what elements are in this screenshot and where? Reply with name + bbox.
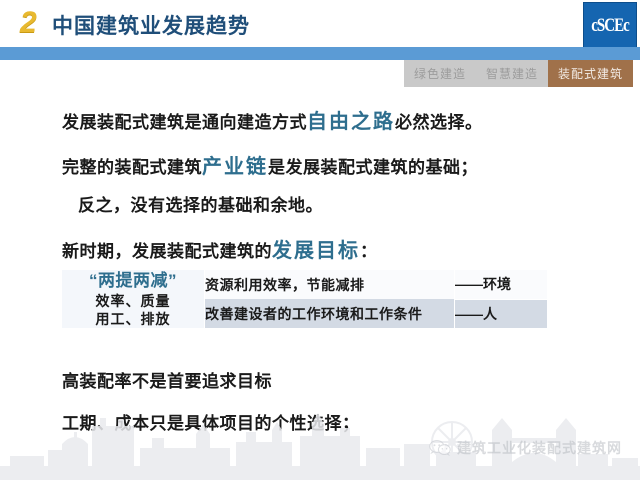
- tab-strip: 绿色建造 智慧建造 装配式建筑: [404, 60, 633, 87]
- cscec-logo: cSCEc: [583, 2, 637, 50]
- tab-prefabricated-building[interactable]: 装配式建筑: [548, 60, 633, 87]
- line-2-after: 是发展装配式建筑的基础；: [268, 158, 478, 177]
- goal-target: ——人: [455, 299, 548, 328]
- line-2-accent: 产业链: [202, 156, 268, 178]
- goal-target: ——环境: [455, 270, 548, 299]
- slogan-main: “两提两减”: [62, 270, 204, 292]
- development-goals-table: “两提两减” 效率、质量 用工、排放 资源利用效率，节能减排 ——环境 改善建设…: [62, 270, 547, 328]
- goal-description: 资源利用效率，节能减排: [205, 270, 455, 299]
- line-4-after: ：: [360, 242, 378, 261]
- header-blue-rule: [0, 47, 640, 60]
- tab-green-construction[interactable]: 绿色建造: [404, 60, 476, 87]
- slogan-cell: “两提两减” 效率、质量 用工、排放: [62, 270, 205, 328]
- cscec-logo-text: cSCEc: [591, 15, 629, 36]
- statement-line-6: 工期、成本只是具体项目的个性选择；: [62, 409, 360, 434]
- statement-line-2: 完整的装配式建筑产业链是发展装配式建筑的基础；: [62, 150, 478, 179]
- table-row: “两提两减” 效率、质量 用工、排放 资源利用效率，节能减排 ——环境: [62, 270, 547, 299]
- statement-line-1: 发展装配式建筑是通向建造方式自由之路必然选择。: [62, 105, 483, 134]
- slogan-sub-2: 用工、排放: [62, 310, 204, 328]
- slide-header: 2 中国建筑业发展趋势 cSCEc: [0, 0, 640, 47]
- footer-watermark: 建筑工业化装配式建筑网: [429, 438, 622, 458]
- line-4-accent: 发展目标: [272, 240, 360, 262]
- tab-label: 装配式建筑: [558, 65, 623, 82]
- line-1-after: 必然选择。: [395, 113, 483, 132]
- goal-description: 改善建设者的工作环境和工作条件: [205, 299, 455, 328]
- tab-label: 绿色建造: [414, 65, 466, 82]
- section-number: 2: [20, 6, 37, 40]
- statement-line-5: 高装配率不是首要追求目标: [62, 367, 272, 392]
- page-title: 中国建筑业发展趋势: [52, 10, 250, 40]
- statement-line-4: 新时期，发展装配式建筑的发展目标：: [62, 234, 378, 263]
- tab-smart-construction[interactable]: 智慧建造: [476, 60, 548, 87]
- statement-line-3: 反之，没有选择的基础和余地。: [78, 191, 323, 216]
- slogan-sub-1: 效率、质量: [62, 292, 204, 310]
- line-4-before: 新时期，发展装配式建筑的: [62, 242, 272, 261]
- footer-watermark-text: 建筑工业化装配式建筑网: [457, 438, 622, 458]
- line-1-before: 发展装配式建筑是通向建造方式: [62, 113, 307, 132]
- tab-label: 智慧建造: [486, 65, 538, 82]
- wechat-icon: [429, 439, 451, 457]
- line-2-before: 完整的装配式建筑: [62, 158, 202, 177]
- line-1-accent: 自由之路: [307, 111, 395, 133]
- slide-canvas: 2 中国建筑业发展趋势 cSCEc 绿色建造 智慧建造 装配式建筑 发展装配式建…: [0, 0, 640, 480]
